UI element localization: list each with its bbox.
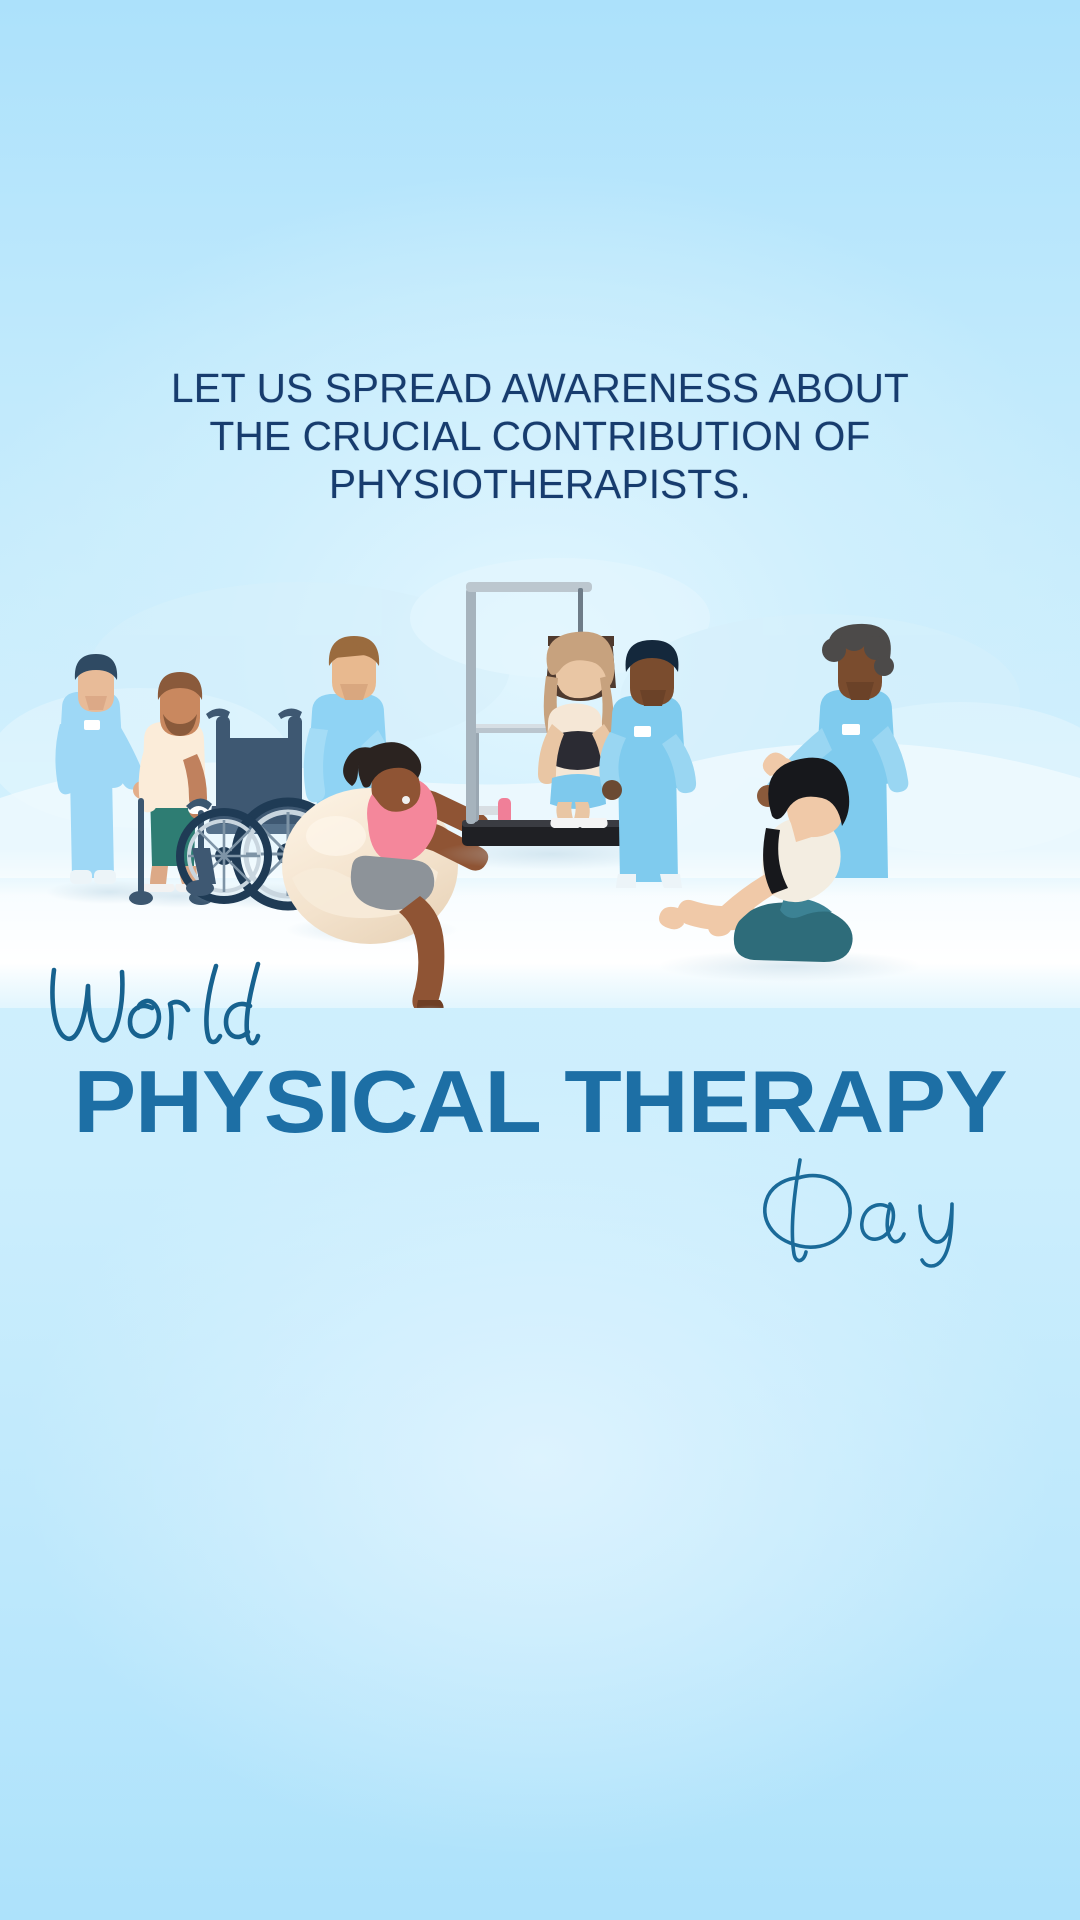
headline-text: LET US SPREAD AWARENESS ABOUT THE CRUCIA… bbox=[0, 364, 1080, 508]
wordmark-script-day bbox=[714, 1150, 1044, 1270]
headline-line-2: THE CRUCIAL CONTRIBUTION OF bbox=[0, 412, 1080, 460]
physiotherapy-illustration bbox=[0, 548, 1080, 1008]
illustration-svg bbox=[0, 548, 1080, 1008]
poster-canvas: LET US SPREAD AWARENESS ABOUT THE CRUCIA… bbox=[0, 0, 1080, 1920]
day-script-svg bbox=[714, 1150, 1044, 1270]
wordmark-main-title: PHYSICAL THERAPY bbox=[0, 1056, 1080, 1148]
headline-line-1: LET US SPREAD AWARENESS ABOUT bbox=[0, 364, 1080, 412]
headline-line-3: PHYSIOTHERAPISTS. bbox=[0, 460, 1080, 508]
world-script-svg bbox=[44, 958, 344, 1058]
wordmark-script-world bbox=[44, 958, 344, 1058]
